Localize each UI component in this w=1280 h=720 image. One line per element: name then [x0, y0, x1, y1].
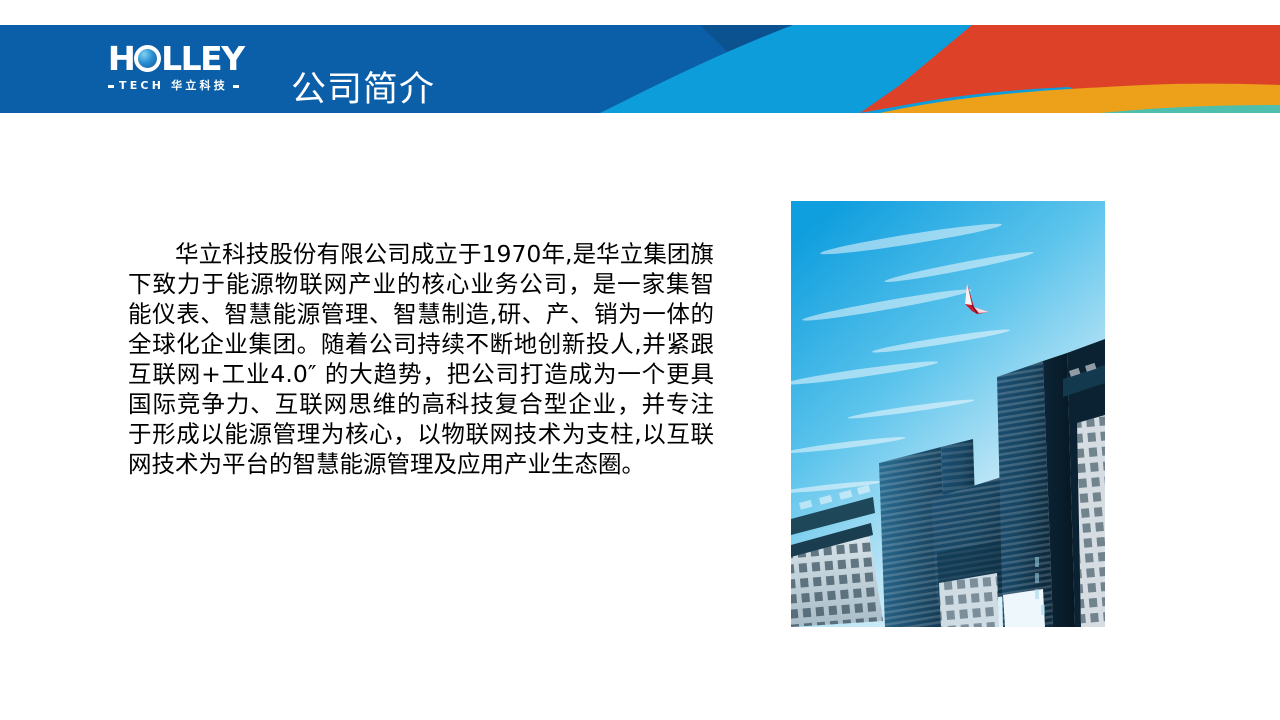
logo-subtitle-text: TECH 华立科技: [119, 80, 228, 92]
page-title: 公司简介: [291, 70, 435, 110]
slide-body: 华立科技股份有限公司成立于1970年,是华立集团旗下致力于能源物联网产业的核心业…: [0, 113, 1280, 720]
logo-o-sphere: [138, 49, 157, 68]
header-banner: H LLEY TECH 华立科技 公司简介: [0, 25, 1280, 113]
logo-sphere-o-icon: [134, 45, 161, 72]
logo-wordmark-post: LLEY: [161, 42, 244, 75]
company-intro-paragraph: 华立科技股份有限公司成立于1970年,是华立集团旗下致力于能源物联网产业的核心业…: [128, 239, 714, 479]
logo-subtitle-row: TECH 华立科技: [108, 79, 268, 93]
logo-rule-left-icon: [108, 85, 114, 88]
header-content: H LLEY TECH 华立科技 公司简介: [0, 25, 1280, 113]
logo-wordmark-pre: H: [108, 42, 135, 75]
office-buildings-photo: [791, 201, 1105, 627]
logo-wordmark: H LLEY: [108, 42, 268, 75]
brand-logo[interactable]: H LLEY TECH 华立科技: [108, 42, 268, 96]
logo-rule-right-icon: [233, 85, 239, 88]
office-buildings-illustration: [791, 201, 1105, 627]
